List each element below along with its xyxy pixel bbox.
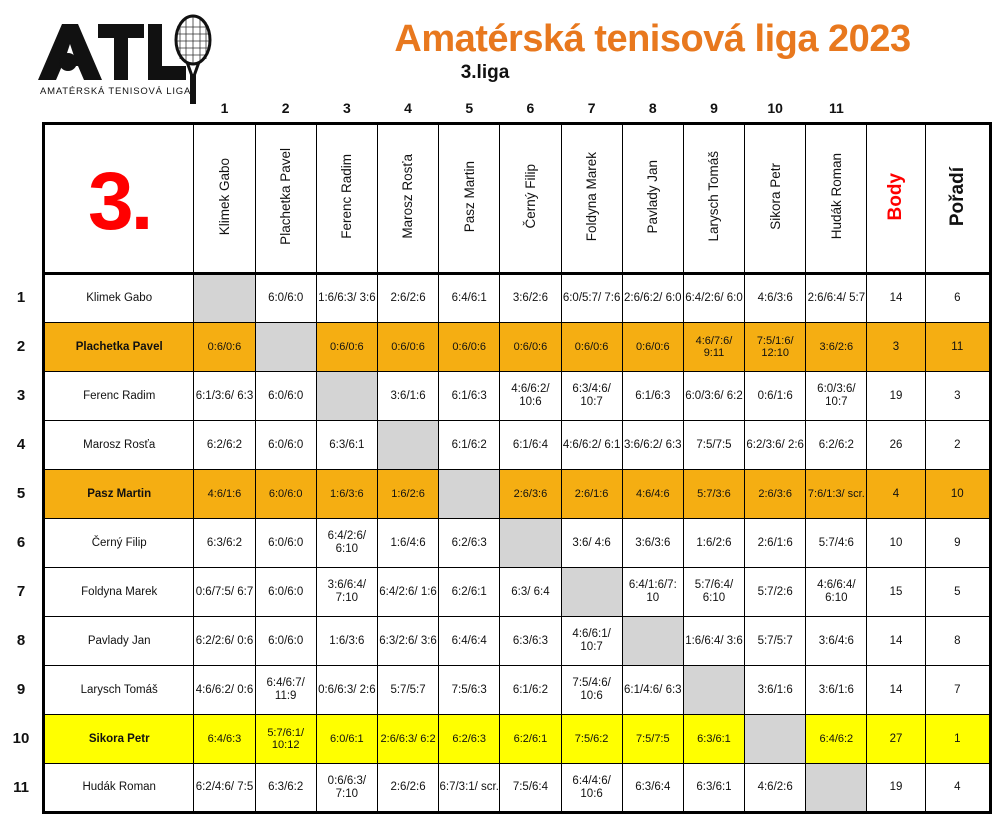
match-score-cell[interactable]: 6:0/6:0 [255, 421, 316, 470]
match-score-cell[interactable]: 6:1/6:3 [439, 372, 500, 421]
match-score-cell[interactable]: 2:6/1:6 [561, 470, 622, 519]
opponent-column-label: Pavlady Jan [645, 160, 660, 234]
opponent-column-header[interactable]: Larysch Tomáš [683, 124, 744, 274]
rank-cell: 5 [925, 568, 990, 617]
self-match-blocked-cell [806, 764, 867, 813]
column-number-label: 11 [806, 100, 867, 116]
rank-cell: 1 [925, 715, 990, 764]
opponent-column-header[interactable]: Pasz Martin [439, 124, 500, 274]
column-number-label: 1 [194, 100, 255, 116]
points-column-label: Body [885, 173, 906, 221]
match-score-cell[interactable]: 2:6/1:6 [745, 519, 806, 568]
row-number-label: 6 [0, 534, 42, 551]
match-score-cell[interactable]: 4:6/6:2/ 6:1 [561, 421, 622, 470]
match-score-cell[interactable]: 6:3/2:6/ 3:6 [377, 617, 438, 666]
points-cell: 26 [867, 421, 925, 470]
match-score-cell[interactable]: 5:7/4:6 [806, 519, 867, 568]
rank-cell: 9 [925, 519, 990, 568]
match-score-cell[interactable]: 1:6/3:6 [316, 617, 377, 666]
row-number-label: 4 [0, 436, 42, 453]
match-score-cell[interactable]: 7:5/7:5 [622, 715, 683, 764]
match-score-cell[interactable]: 6:1/6:2 [439, 421, 500, 470]
player-name-cell[interactable]: Hudák Roman [44, 764, 194, 813]
column-number-strip: 1234567891011 [0, 100, 999, 122]
opponent-column-label: Larysch Tomáš [706, 151, 721, 242]
table-row[interactable]: Hudák Roman6:2/4:6/ 7:56:3/6:20:6/6:3/ 7… [44, 764, 991, 813]
header-row: 3.Klimek GaboPlachetka PavelFerenc Radim… [44, 124, 991, 274]
self-match-blocked-cell [683, 666, 744, 715]
opponent-column-label: Černý Filip [523, 164, 538, 229]
rank-cell: 6 [925, 274, 990, 323]
row-number-label: 7 [0, 583, 42, 600]
player-name-cell[interactable]: Pasz Martin [44, 470, 194, 519]
player-name-cell[interactable]: Sikora Petr [44, 715, 194, 764]
league-badge: 3. [45, 155, 193, 243]
opponent-column-label: Foldyna Marek [584, 152, 599, 241]
match-score-cell[interactable]: 6:2/6:2 [806, 421, 867, 470]
match-score-cell[interactable]: 0:6/0:6 [500, 323, 561, 372]
match-score-cell[interactable]: 1:6/4:6 [377, 519, 438, 568]
match-score-cell[interactable]: 4:6/6:4/ 6:10 [806, 568, 867, 617]
match-score-cell[interactable]: 2:6/2:6 [377, 274, 438, 323]
rank-cell: 8 [925, 617, 990, 666]
match-score-cell[interactable]: 3:6/2:6 [806, 323, 867, 372]
logo-tagline-text: AMATÉRSKÁ TENISOVÁ LIGA [40, 86, 191, 97]
column-number-label: 8 [622, 100, 683, 116]
match-score-cell[interactable]: 6:2/2:6/ 0:6 [194, 617, 255, 666]
column-number-label: 3 [316, 100, 377, 116]
opponent-column-header[interactable]: Pavlady Jan [622, 124, 683, 274]
row-number-label: 11 [0, 779, 42, 796]
table-row[interactable]: Marosz Rosťa6:2/6:26:0/6:06:3/6:16:1/6:2… [44, 421, 991, 470]
player-name-cell[interactable]: Plachetka Pavel [44, 323, 194, 372]
match-score-cell[interactable]: 0:6/6:3/ 7:10 [316, 764, 377, 813]
points-cell: 3 [867, 323, 925, 372]
match-score-cell[interactable]: 6:3/6:4 [622, 764, 683, 813]
opponent-column-label: Sikora Petr [768, 163, 783, 230]
match-score-cell[interactable]: 0:6/0:6 [439, 323, 500, 372]
match-score-cell[interactable]: 6:2/3:6/ 2:6 [745, 421, 806, 470]
row-number-label: 10 [0, 730, 42, 747]
match-score-cell[interactable]: 7:5/4:6/ 10:6 [561, 666, 622, 715]
match-score-cell[interactable]: 6:4/6:1 [439, 274, 500, 323]
match-score-cell[interactable]: 0:6/1:6 [745, 372, 806, 421]
match-score-cell[interactable]: 6:4/4:6/ 10:6 [561, 764, 622, 813]
match-score-cell[interactable]: 6:4/1:6/7: 10 [622, 568, 683, 617]
match-score-cell[interactable]: 6:2/6:3 [439, 715, 500, 764]
match-score-cell[interactable]: 7:5/6:2 [561, 715, 622, 764]
opponent-column-header[interactable]: Ferenc Radim [316, 124, 377, 274]
match-score-cell[interactable]: 6:2/4:6/ 7:5 [194, 764, 255, 813]
match-score-cell[interactable]: 4:6/4:6 [622, 470, 683, 519]
table-body: Klimek Gabo6:0/6:01:6/6:3/ 3:62:6/2:66:4… [44, 274, 991, 813]
match-score-cell[interactable]: 4:6/6:2/ 0:6 [194, 666, 255, 715]
match-score-cell[interactable]: 7:5/1:6/ 12:10 [745, 323, 806, 372]
match-score-cell[interactable]: 0:6/6:3/ 2:6 [316, 666, 377, 715]
opponent-column-label: Plachetka Pavel [278, 148, 293, 245]
match-score-cell[interactable]: 7:6/1:3/ scr. [806, 470, 867, 519]
match-score-cell[interactable]: 6:4/6:4 [439, 617, 500, 666]
match-score-cell[interactable]: 2:6/6:4/ 5:7 [806, 274, 867, 323]
rank-cell: 2 [925, 421, 990, 470]
opponent-column-label: Ferenc Radim [339, 154, 354, 239]
points-cell: 14 [867, 617, 925, 666]
opponent-column-label: Hudák Roman [829, 153, 844, 239]
match-score-cell[interactable]: 6:3/6:1 [683, 715, 744, 764]
match-score-cell[interactable]: 1:6/2:6 [683, 519, 744, 568]
match-score-cell[interactable]: 4:6/2:6 [745, 764, 806, 813]
opponent-column-header[interactable]: Foldyna Marek [561, 124, 622, 274]
atl-logo: AMATÉRSKÁ TENISOVÁ LIGA [32, 14, 232, 106]
match-score-cell[interactable]: 6:0/6:0 [255, 372, 316, 421]
match-score-cell[interactable]: 6:3/6:2 [255, 764, 316, 813]
player-name-cell[interactable]: Ferenc Radim [44, 372, 194, 421]
match-score-cell[interactable]: 2:6/3:6 [500, 470, 561, 519]
rank-column-label: Pořadí [947, 167, 968, 226]
points-cell: 10 [867, 519, 925, 568]
row-number-label: 3 [0, 387, 42, 404]
rank-cell: 3 [925, 372, 990, 421]
player-name-cell[interactable]: Černý Filip [44, 519, 194, 568]
points-cell: 14 [867, 666, 925, 715]
self-match-blocked-cell [377, 421, 438, 470]
match-score-cell[interactable]: 4:6/7:6/ 9:11 [683, 323, 744, 372]
match-score-cell[interactable]: 3:6/1:6 [806, 666, 867, 715]
league-standings-page: AMATÉRSKÁ TENISOVÁ LIGA Amatérská teniso… [0, 0, 999, 837]
opponent-column-header[interactable]: Marosz Rosťa [377, 124, 438, 274]
match-score-cell[interactable]: 6:2/6:2 [194, 421, 255, 470]
match-score-cell[interactable]: 4:6/1:6 [194, 470, 255, 519]
table-row[interactable]: Ferenc Radim6:1/3:6/ 6:36:0/6:03:6/1:66:… [44, 372, 991, 421]
match-score-cell[interactable]: 3:6/6:2/ 6:3 [622, 421, 683, 470]
match-score-cell[interactable]: 6:3/6:1 [316, 421, 377, 470]
match-score-cell[interactable]: 6:3/ 6:4 [500, 568, 561, 617]
opponent-column-header[interactable]: Klimek Gabo [194, 124, 255, 274]
points-cell: 19 [867, 764, 925, 813]
table-row[interactable]: Klimek Gabo6:0/6:01:6/6:3/ 3:62:6/2:66:4… [44, 274, 991, 323]
match-score-cell[interactable]: 6:0/6:0 [255, 568, 316, 617]
league-badge-cell: 3. [44, 124, 194, 274]
row-number-label: 9 [0, 681, 42, 698]
match-score-cell[interactable]: 3:6/3:6 [622, 519, 683, 568]
player-name-cell[interactable]: Foldyna Marek [44, 568, 194, 617]
match-score-cell[interactable]: 6:0/6:0 [255, 519, 316, 568]
opponent-column-label: Klimek Gabo [217, 158, 232, 235]
match-score-cell[interactable]: 6:0/6:0 [255, 470, 316, 519]
rank-cell: 4 [925, 764, 990, 813]
match-score-cell[interactable]: 6:3/6:2 [194, 519, 255, 568]
match-score-cell[interactable]: 6:4/6:7/ 11:9 [255, 666, 316, 715]
match-score-cell[interactable]: 6:4/2:6/ 6:10 [316, 519, 377, 568]
match-score-cell[interactable]: 5:7/3:6 [683, 470, 744, 519]
match-score-cell[interactable]: 6:7/3:1/ scr. [439, 764, 500, 813]
match-score-cell[interactable]: 5:7/6:4/ 6:10 [683, 568, 744, 617]
row-number-label: 5 [0, 485, 42, 502]
opponent-column-header[interactable]: Černý Filip [500, 124, 561, 274]
match-score-cell[interactable]: 5:7/5:7 [377, 666, 438, 715]
match-score-cell[interactable]: 3:6/6:4/ 7:10 [316, 568, 377, 617]
match-score-cell[interactable]: 6:1/6:3 [622, 372, 683, 421]
opponent-column-label: Pasz Martin [462, 161, 477, 232]
opponent-column-header[interactable]: Sikora Petr [745, 124, 806, 274]
rank-cell: 11 [925, 323, 990, 372]
table-row[interactable]: Plachetka Pavel0:6/0:60:6/0:60:6/0:60:6/… [44, 323, 991, 372]
match-score-cell[interactable]: 0:6/0:6 [561, 323, 622, 372]
match-score-cell[interactable]: 6:4/6:2 [806, 715, 867, 764]
rank-column-header[interactable]: Pořadí [925, 124, 990, 274]
match-score-cell[interactable]: 3:6/1:6 [377, 372, 438, 421]
opponent-column-label: Marosz Rosťa [400, 154, 415, 239]
self-match-blocked-cell [439, 470, 500, 519]
match-score-cell[interactable]: 6:2/6:3 [439, 519, 500, 568]
column-number-label: 7 [561, 100, 622, 116]
match-score-cell[interactable]: 6:0/6:0 [255, 617, 316, 666]
rank-cell: 10 [925, 470, 990, 519]
column-number-label: 2 [255, 100, 316, 116]
match-score-cell[interactable]: 6:3/6:1 [683, 764, 744, 813]
row-number-label: 2 [0, 338, 42, 355]
match-score-cell[interactable]: 6:4/2:6/ 6:0 [683, 274, 744, 323]
player-name-cell[interactable]: Pavlady Jan [44, 617, 194, 666]
match-score-cell[interactable]: 6:0/3:6/ 10:7 [806, 372, 867, 421]
match-score-cell[interactable]: 1:6/6:4/ 3:6 [683, 617, 744, 666]
column-number-label: 9 [683, 100, 744, 116]
match-score-cell[interactable]: 6:4/2:6/ 1:6 [377, 568, 438, 617]
match-score-cell[interactable]: 6:2/6:1 [500, 715, 561, 764]
match-score-cell[interactable]: 6:0/3:6/ 6:2 [683, 372, 744, 421]
results-matrix-table: 3.Klimek GaboPlachetka PavelFerenc Radim… [42, 122, 992, 814]
match-score-cell[interactable]: 4:6/6:2/ 10:6 [500, 372, 561, 421]
opponent-column-header[interactable]: Hudák Roman [806, 124, 867, 274]
match-score-cell[interactable]: 5:7/2:6 [745, 568, 806, 617]
points-column-header[interactable]: Body [867, 124, 925, 274]
match-score-cell[interactable]: 1:6/6:3/ 3:6 [316, 274, 377, 323]
points-cell: 15 [867, 568, 925, 617]
match-score-cell[interactable]: 6:1/3:6/ 6:3 [194, 372, 255, 421]
self-match-blocked-cell [316, 372, 377, 421]
match-score-cell[interactable]: 0:6/0:6 [622, 323, 683, 372]
match-score-cell[interactable]: 0:6/7:5/ 6:7 [194, 568, 255, 617]
match-score-cell[interactable]: 0:6/0:6 [194, 323, 255, 372]
match-score-cell[interactable]: 1:6/2:6 [377, 470, 438, 519]
table-row[interactable]: Pasz Martin4:6/1:66:0/6:01:6/3:61:6/2:62… [44, 470, 991, 519]
self-match-blocked-cell [500, 519, 561, 568]
match-score-cell[interactable]: 6:0/6:0 [255, 274, 316, 323]
table-row[interactable]: Pavlady Jan6:2/2:6/ 0:66:0/6:01:6/3:66:3… [44, 617, 991, 666]
atl-logo-icon: AMATÉRSKÁ TENISOVÁ LIGA [32, 14, 232, 106]
league-subtitle: 3.liga [320, 62, 650, 84]
match-score-cell[interactable]: 0:6/0:6 [377, 323, 438, 372]
self-match-blocked-cell [745, 715, 806, 764]
match-score-cell[interactable]: 6:3/6:3 [500, 617, 561, 666]
table-head: 3.Klimek GaboPlachetka PavelFerenc Radim… [44, 124, 991, 274]
self-match-blocked-cell [194, 274, 255, 323]
row-number-label: 8 [0, 632, 42, 649]
match-score-cell[interactable]: 6:0/6:1 [316, 715, 377, 764]
match-score-cell[interactable]: 6:3/4:6/ 10:7 [561, 372, 622, 421]
match-score-cell[interactable]: 7:5/7:5 [683, 421, 744, 470]
match-score-cell[interactable]: 3:6/ 4:6 [561, 519, 622, 568]
match-score-cell[interactable]: 3:6/2:6 [500, 274, 561, 323]
match-score-cell[interactable]: 3:6/4:6 [806, 617, 867, 666]
match-score-cell[interactable]: 6:1/4:6/ 6:3 [622, 666, 683, 715]
points-cell: 27 [867, 715, 925, 764]
page-title: Amatérská tenisová liga 2023 [320, 18, 985, 61]
match-score-cell[interactable]: 0:6/0:6 [316, 323, 377, 372]
table-row[interactable]: Larysch Tomáš4:6/6:2/ 0:66:4/6:7/ 11:90:… [44, 666, 991, 715]
match-score-cell[interactable]: 7:5/6:3 [439, 666, 500, 715]
opponent-column-header[interactable]: Plachetka Pavel [255, 124, 316, 274]
points-cell: 14 [867, 274, 925, 323]
match-score-cell[interactable]: 2:6/2:6 [377, 764, 438, 813]
match-score-cell[interactable]: 4:6/6:1/ 10:7 [561, 617, 622, 666]
column-number-label: 10 [745, 100, 806, 116]
player-name-cell[interactable]: Larysch Tomáš [44, 666, 194, 715]
column-number-label: 4 [377, 100, 438, 116]
match-score-cell[interactable]: 2:6/6:2/ 6:0 [622, 274, 683, 323]
table-row[interactable]: Foldyna Marek0:6/7:5/ 6:76:0/6:03:6/6:4/… [44, 568, 991, 617]
match-score-cell[interactable]: 2:6/6:3/ 6:2 [377, 715, 438, 764]
player-name-cell[interactable]: Marosz Rosťa [44, 421, 194, 470]
match-score-cell[interactable]: 6:2/6:1 [439, 568, 500, 617]
table-row[interactable]: Černý Filip6:3/6:26:0/6:06:4/2:6/ 6:101:… [44, 519, 991, 568]
match-score-cell[interactable]: 1:6/3:6 [316, 470, 377, 519]
self-match-blocked-cell [622, 617, 683, 666]
match-score-cell[interactable]: 2:6/3:6 [745, 470, 806, 519]
rank-cell: 7 [925, 666, 990, 715]
match-score-cell[interactable]: 6:1/6:2 [500, 666, 561, 715]
match-score-cell[interactable]: 4:6/3:6 [745, 274, 806, 323]
match-score-cell[interactable]: 6:0/5:7/ 7:6 [561, 274, 622, 323]
self-match-blocked-cell [561, 568, 622, 617]
player-name-cell[interactable]: Klimek Gabo [44, 274, 194, 323]
row-number-label: 1 [0, 289, 42, 306]
match-score-cell[interactable]: 5:7/5:7 [745, 617, 806, 666]
match-score-cell[interactable]: 5:7/6:1/ 10:12 [255, 715, 316, 764]
table-row[interactable]: Sikora Petr6:4/6:35:7/6:1/ 10:126:0/6:12… [44, 715, 991, 764]
column-number-label: 6 [500, 100, 561, 116]
match-score-cell[interactable]: 6:4/6:3 [194, 715, 255, 764]
match-score-cell[interactable]: 7:5/6:4 [500, 764, 561, 813]
match-score-cell[interactable]: 6:1/6:4 [500, 421, 561, 470]
match-score-cell[interactable]: 3:6/1:6 [745, 666, 806, 715]
self-match-blocked-cell [255, 323, 316, 372]
points-cell: 19 [867, 372, 925, 421]
column-number-label: 5 [439, 100, 500, 116]
points-cell: 4 [867, 470, 925, 519]
